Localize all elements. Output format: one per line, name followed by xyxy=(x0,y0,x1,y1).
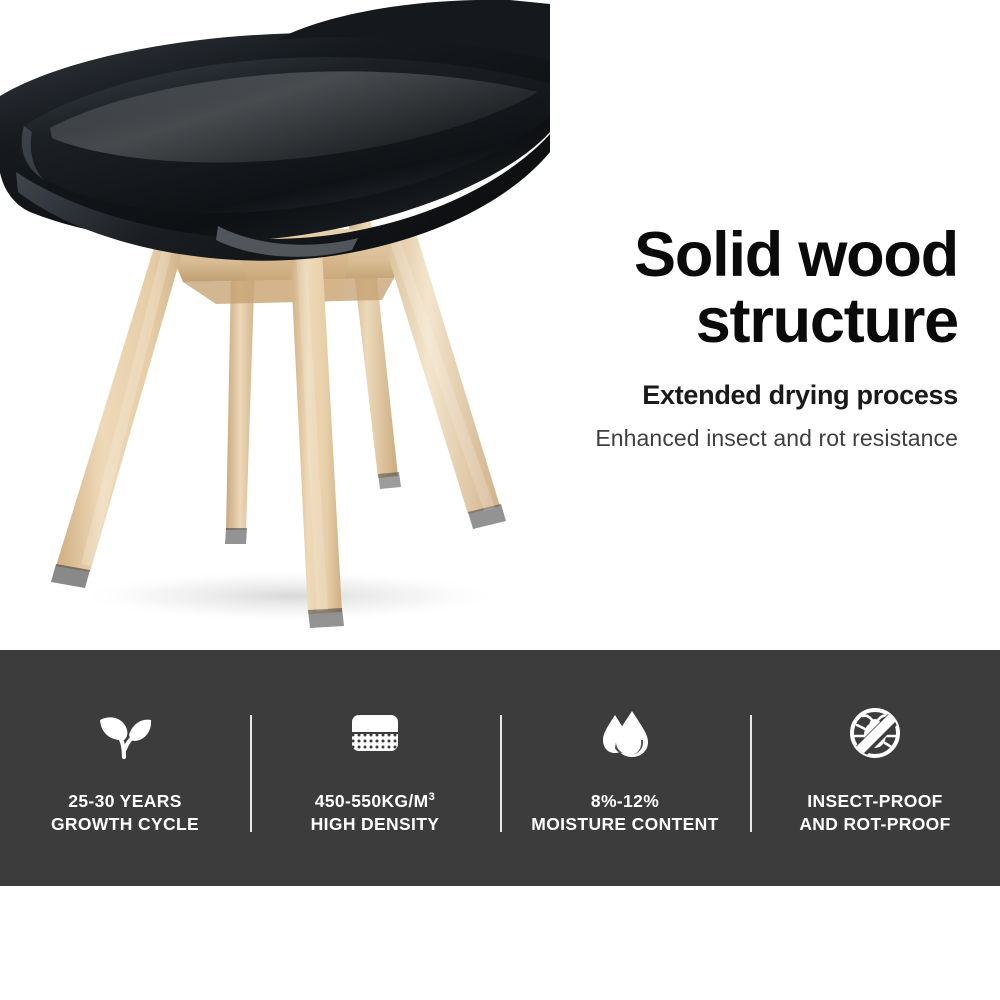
feature-moisture-content: 8%-12% MOISTURE CONTENT xyxy=(500,650,750,886)
feature-line-2: AND ROT-PROOF xyxy=(799,813,950,836)
feature-label-growth-cycle: 25-30 YEARS GROWTH CYCLE xyxy=(51,790,199,836)
feature-line-1: INSECT-PROOF xyxy=(799,790,950,813)
feature-line-1: 25-30 YEARS xyxy=(51,790,199,813)
headline-block: Solid wood structure Extended drying pro… xyxy=(528,222,958,452)
feature-line-2: MOISTURE CONTENT xyxy=(531,813,718,836)
density-block-icon xyxy=(344,702,406,764)
product-feature-banner: Solid wood structure Extended drying pro… xyxy=(0,0,1000,1000)
subheadline: Extended drying process xyxy=(528,379,958,411)
feature-line-2: GROWTH CYCLE xyxy=(51,813,199,836)
no-insect-icon xyxy=(844,702,906,764)
feature-label-high-density: 450-550KG/M3 HIGH DENSITY xyxy=(311,790,440,836)
feature-line-1: 450-550KG/M3 xyxy=(311,790,440,813)
feature-line-2: HIGH DENSITY xyxy=(311,813,440,836)
product-photo-chair xyxy=(0,0,590,650)
feature-growth-cycle: 25-30 YEARS GROWTH CYCLE xyxy=(0,650,250,886)
feature-label-insect-proof: INSECT-PROOF AND ROT-PROOF xyxy=(799,790,950,836)
water-drops-icon xyxy=(594,702,656,764)
feature-high-density: 450-550KG/M3 HIGH DENSITY xyxy=(250,650,500,886)
headline-line-1: Solid wood xyxy=(528,222,958,288)
bottom-white-strip xyxy=(0,886,1000,1000)
tagline: Enhanced insect and rot resistance xyxy=(528,424,958,452)
feature-line-1: 8%-12% xyxy=(531,790,718,813)
feature-insect-proof: INSECT-PROOF AND ROT-PROOF xyxy=(750,650,1000,886)
hero-section: Solid wood structure Extended drying pro… xyxy=(0,0,1000,650)
feature-bar: 25-30 YEARS GROWTH CYCLE xyxy=(0,650,1000,886)
leaf-sprout-icon xyxy=(94,702,156,764)
feature-label-moisture-content: 8%-12% MOISTURE CONTENT xyxy=(531,790,718,836)
headline-line-2: structure xyxy=(528,288,958,354)
density-unit-exponent: 3 xyxy=(429,791,436,803)
density-value: 450-550KG/M xyxy=(315,791,429,811)
